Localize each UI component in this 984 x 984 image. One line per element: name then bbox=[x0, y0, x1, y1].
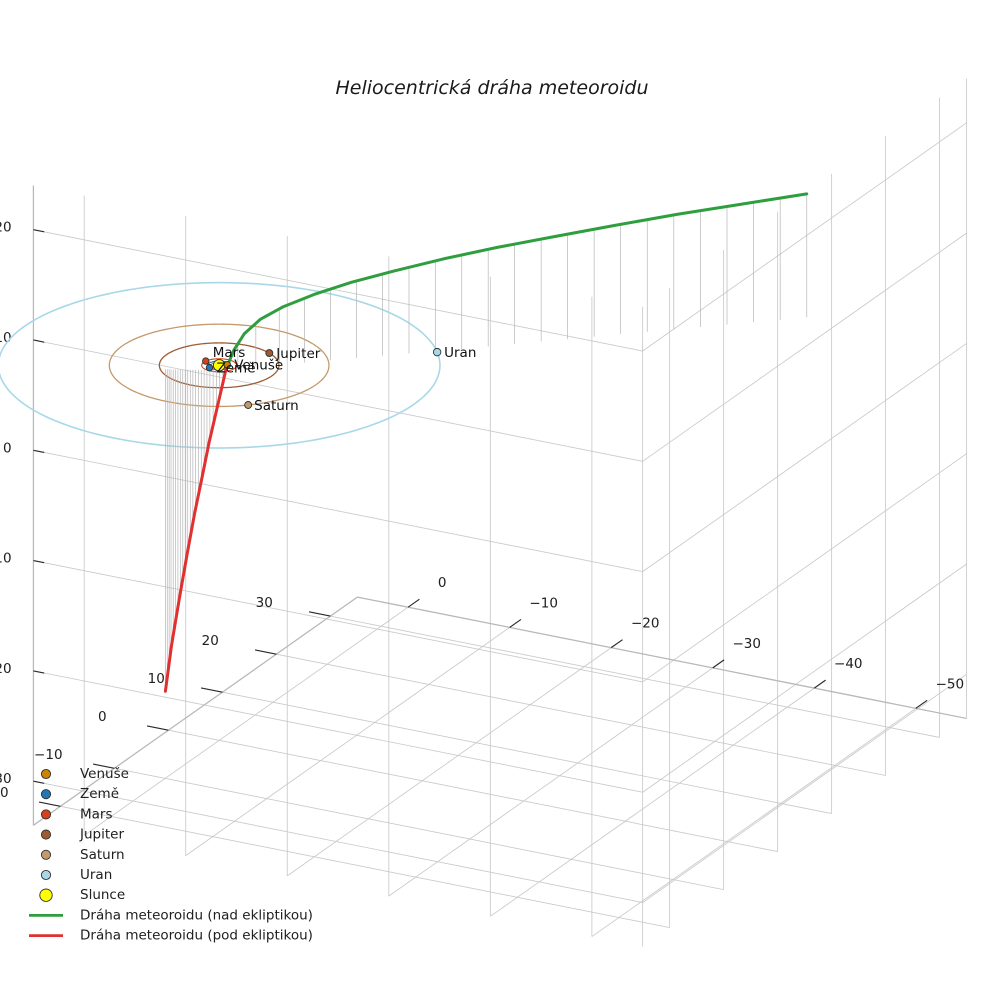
legend-label: Země bbox=[80, 786, 119, 802]
body-label-uran: Uran bbox=[444, 345, 476, 361]
ytick-5: −50 bbox=[936, 676, 965, 692]
legend-label: Uran bbox=[80, 867, 112, 883]
matplotlib-3d-axes: 20100−10−20−30−20−1001020300−10−20−30−40… bbox=[0, 0, 984, 984]
ytick-4: −40 bbox=[834, 656, 863, 672]
legend-marker-icon bbox=[41, 769, 50, 778]
legend-label: Venuše bbox=[80, 766, 129, 782]
legend[interactable]: VenušeZeměMarsJupiterSaturnUranSlunceDrá… bbox=[29, 766, 313, 944]
xtick-5: 30 bbox=[256, 595, 273, 611]
legend-label: Mars bbox=[80, 806, 113, 822]
xtick-4: 20 bbox=[202, 633, 219, 649]
legend-marker-icon bbox=[41, 790, 50, 799]
legend-item-dr-ha-meteoroidu-nad-ekliptikou[interactable]: Dráha meteoroidu (nad ekliptikou) bbox=[29, 907, 313, 923]
meteoroid-trajectory bbox=[165, 194, 806, 691]
legend-item-jupiter[interactable]: Jupiter bbox=[41, 827, 124, 843]
legend-item-zem[interactable]: Země bbox=[41, 786, 119, 802]
ytick-2: −20 bbox=[631, 616, 660, 632]
legend-item-venu-e[interactable]: Venuše bbox=[41, 766, 129, 782]
body-marker-jupiter bbox=[266, 350, 273, 357]
body-label-saturn: Saturn bbox=[254, 398, 299, 414]
body-marker-saturn bbox=[245, 401, 252, 408]
body-label-jupiter: Jupiter bbox=[275, 346, 320, 362]
legend-item-mars[interactable]: Mars bbox=[41, 806, 112, 822]
body-label-zem: Země bbox=[216, 361, 255, 377]
legend-marker-icon bbox=[40, 889, 52, 901]
ztick-3: −10 bbox=[0, 551, 12, 567]
legend-marker-icon bbox=[41, 850, 50, 859]
legend-item-slunce[interactable]: Slunce bbox=[40, 887, 125, 903]
body-marker-mars bbox=[203, 358, 210, 365]
ztick-2: 0 bbox=[3, 440, 12, 456]
xtick-0: −20 bbox=[0, 785, 9, 801]
legend-item-dr-ha-meteoroidu-pod-ekliptikou[interactable]: Dráha meteoroidu (pod ekliptikou) bbox=[29, 928, 313, 944]
figure-canvas: 20100−10−20−30−20−1001020300−10−20−30−40… bbox=[0, 0, 984, 984]
ztick-4: −20 bbox=[0, 661, 12, 677]
legend-marker-icon bbox=[41, 810, 50, 819]
ytick-3: −30 bbox=[733, 636, 762, 652]
legend-item-uran[interactable]: Uran bbox=[41, 867, 112, 883]
body-marker-zem bbox=[206, 364, 213, 371]
page-title: Heliocentrická dráha meteoroidu bbox=[335, 77, 648, 99]
legend-label: Dráha meteoroidu (nad ekliptikou) bbox=[80, 907, 313, 923]
legend-marker-icon bbox=[41, 870, 50, 879]
ztick-0: 20 bbox=[0, 220, 12, 236]
ytick-0: 0 bbox=[438, 575, 447, 591]
body-label-mars: Mars bbox=[213, 345, 246, 361]
xtick-2: 0 bbox=[98, 709, 107, 725]
legend-label: Saturn bbox=[80, 847, 125, 863]
legend-marker-icon bbox=[41, 830, 50, 839]
legend-label: Slunce bbox=[80, 887, 125, 903]
xtick-1: −10 bbox=[34, 747, 63, 763]
legend-label: Dráha meteoroidu (pod ekliptikou) bbox=[80, 928, 313, 944]
trajectory-drop-lines bbox=[165, 194, 806, 691]
legend-label: Jupiter bbox=[79, 827, 124, 843]
ytick-1: −10 bbox=[529, 595, 558, 611]
trajectory-above-ecliptic bbox=[226, 194, 807, 369]
body-marker-uran bbox=[433, 348, 441, 356]
legend-item-saturn[interactable]: Saturn bbox=[41, 847, 124, 863]
xtick-3: 10 bbox=[148, 671, 165, 687]
